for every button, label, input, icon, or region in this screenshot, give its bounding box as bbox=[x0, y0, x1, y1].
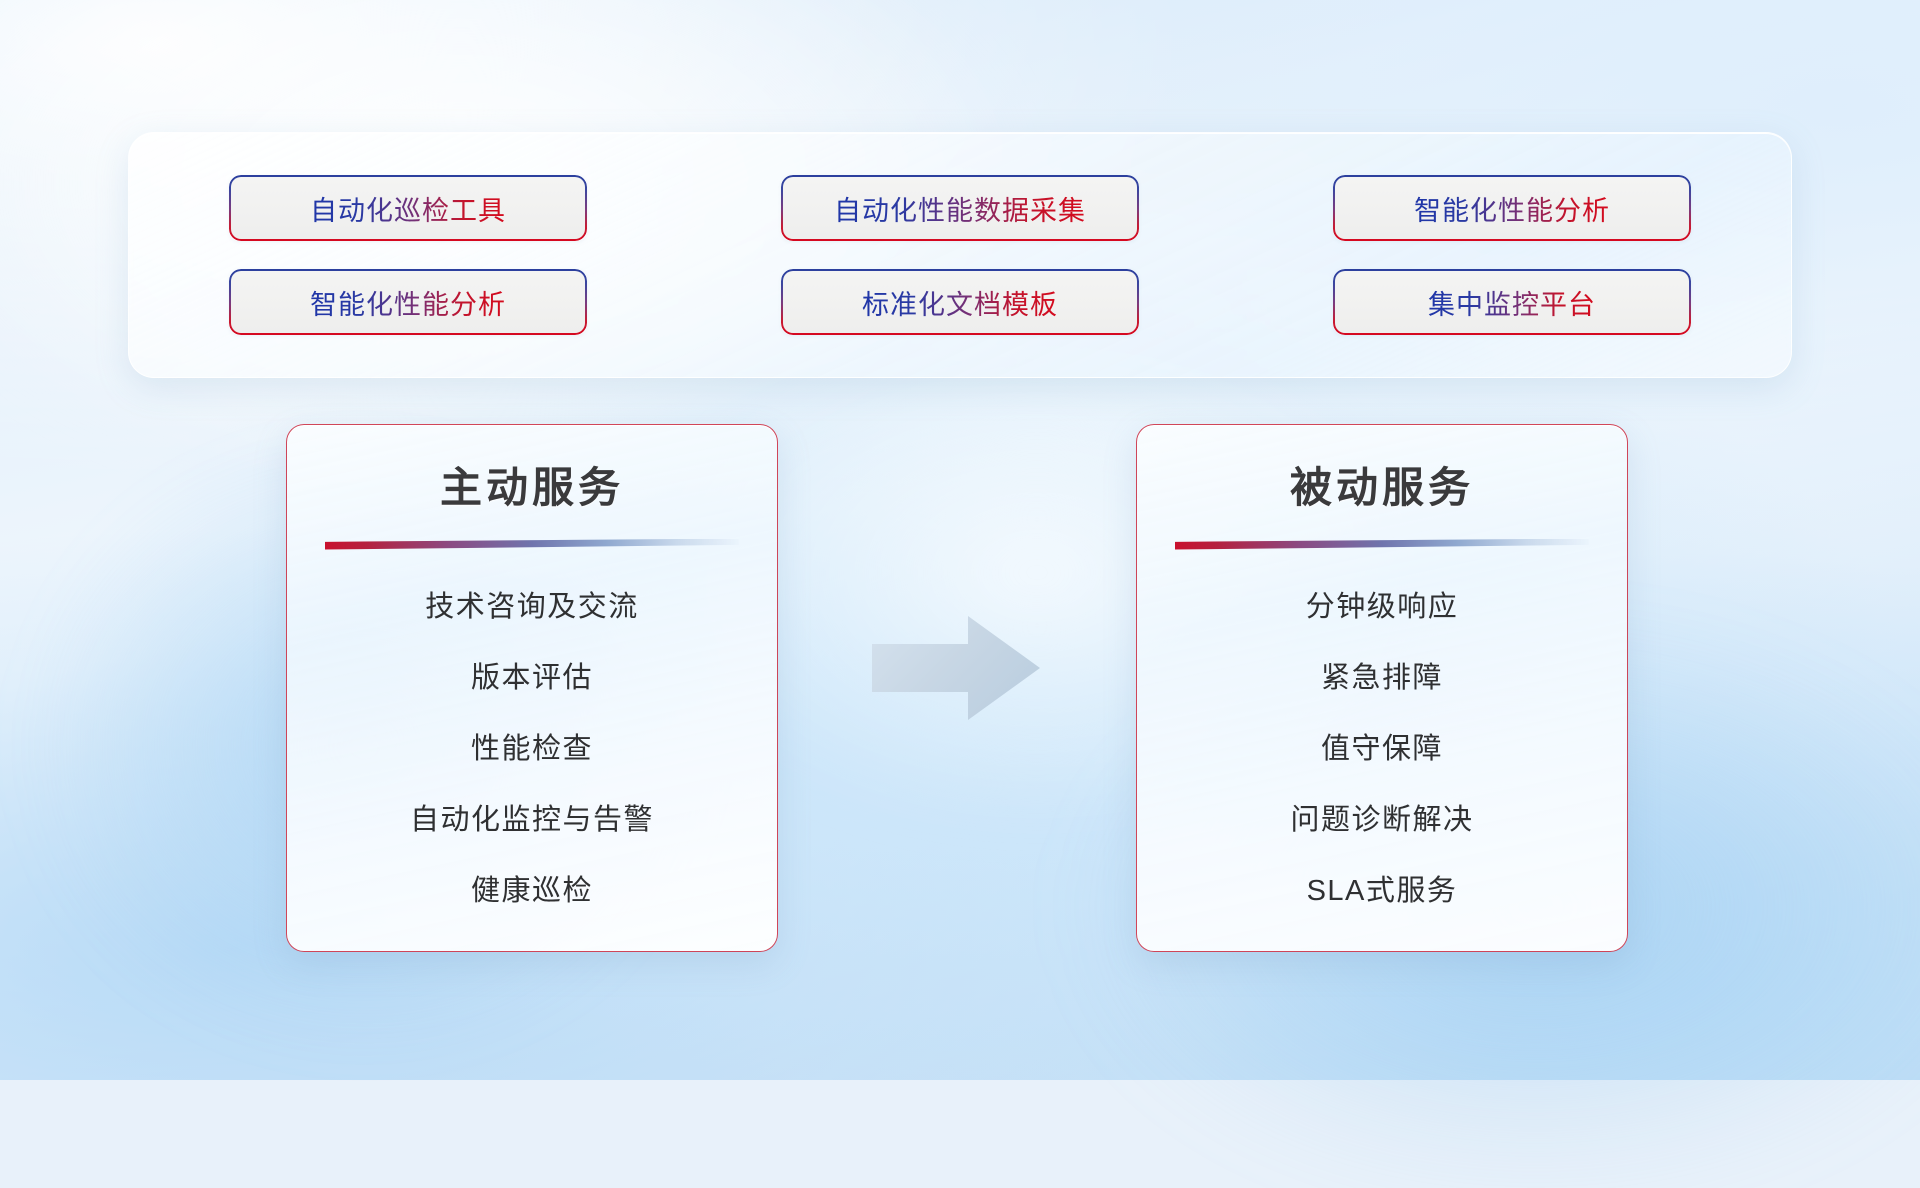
proactive-service-card: 主动服务 技术咨询及交流 版本评估 性能检查 自动化监控与告警 健康巡检 bbox=[286, 424, 778, 952]
divider-bar bbox=[1175, 539, 1589, 550]
reactive-card-divider bbox=[1175, 539, 1589, 551]
proactive-service-list: 技术咨询及交流 版本评估 性能检查 自动化监控与告警 健康巡检 bbox=[325, 551, 739, 923]
capability-panel: 自动化巡检工具 自动化性能数据采集 智能化性能分析 智能化性能分析 标准化文档模… bbox=[128, 132, 1792, 378]
capability-chip-label: 标准化文档模板 bbox=[862, 283, 1058, 322]
reactive-service-list: 分钟级响应 紧急排障 值守保障 问题诊断解决 SLA式服务 bbox=[1175, 551, 1589, 923]
reactive-card-title: 被动服务 bbox=[1175, 463, 1589, 513]
list-item: 技术咨询及交流 bbox=[425, 583, 639, 625]
reactive-service-card: 被动服务 分钟级响应 紧急排障 值守保障 问题诊断解决 SLA式服务 bbox=[1136, 424, 1628, 952]
capability-chip-label: 自动化性能数据采集 bbox=[834, 189, 1086, 228]
list-item: 紧急排障 bbox=[1321, 654, 1443, 696]
capability-chip-intelligent-performance-analysis-top[interactable]: 智能化性能分析 bbox=[1333, 175, 1691, 241]
capability-chip-intelligent-performance-analysis[interactable]: 智能化性能分析 bbox=[229, 269, 587, 335]
list-item: 分钟级响应 bbox=[1306, 583, 1459, 625]
capability-row-2: 智能化性能分析 标准化文档模板 集中监控平台 bbox=[229, 269, 1691, 335]
capability-chip-standardized-document-template[interactable]: 标准化文档模板 bbox=[781, 269, 1139, 335]
capability-chip-automated-inspection-tool[interactable]: 自动化巡检工具 bbox=[229, 175, 587, 241]
capability-row-1: 自动化巡检工具 自动化性能数据采集 智能化性能分析 bbox=[229, 175, 1691, 241]
proactive-card-divider bbox=[325, 539, 739, 551]
divider-bar bbox=[325, 539, 739, 550]
list-item: 问题诊断解决 bbox=[1290, 796, 1473, 838]
arrow-right-icon bbox=[872, 616, 1040, 720]
flow-arrow bbox=[872, 614, 1040, 722]
list-item: 性能检查 bbox=[471, 725, 593, 767]
capability-chip-label: 智能化性能分析 bbox=[1414, 189, 1610, 228]
capability-chip-label: 集中监控平台 bbox=[1428, 283, 1596, 322]
list-item: 健康巡检 bbox=[471, 867, 593, 909]
capability-chip-automated-performance-data-collection[interactable]: 自动化性能数据采集 bbox=[781, 175, 1139, 241]
capability-chip-centralized-monitoring-platform[interactable]: 集中监控平台 bbox=[1333, 269, 1691, 335]
capability-chip-label: 智能化性能分析 bbox=[310, 283, 506, 322]
list-item: 值守保障 bbox=[1321, 725, 1443, 767]
capability-chip-label: 自动化巡检工具 bbox=[310, 189, 506, 228]
list-item: 自动化监控与告警 bbox=[410, 796, 654, 838]
proactive-card-title: 主动服务 bbox=[325, 463, 739, 513]
list-item: SLA式服务 bbox=[1307, 867, 1458, 909]
list-item: 版本评估 bbox=[471, 654, 593, 696]
